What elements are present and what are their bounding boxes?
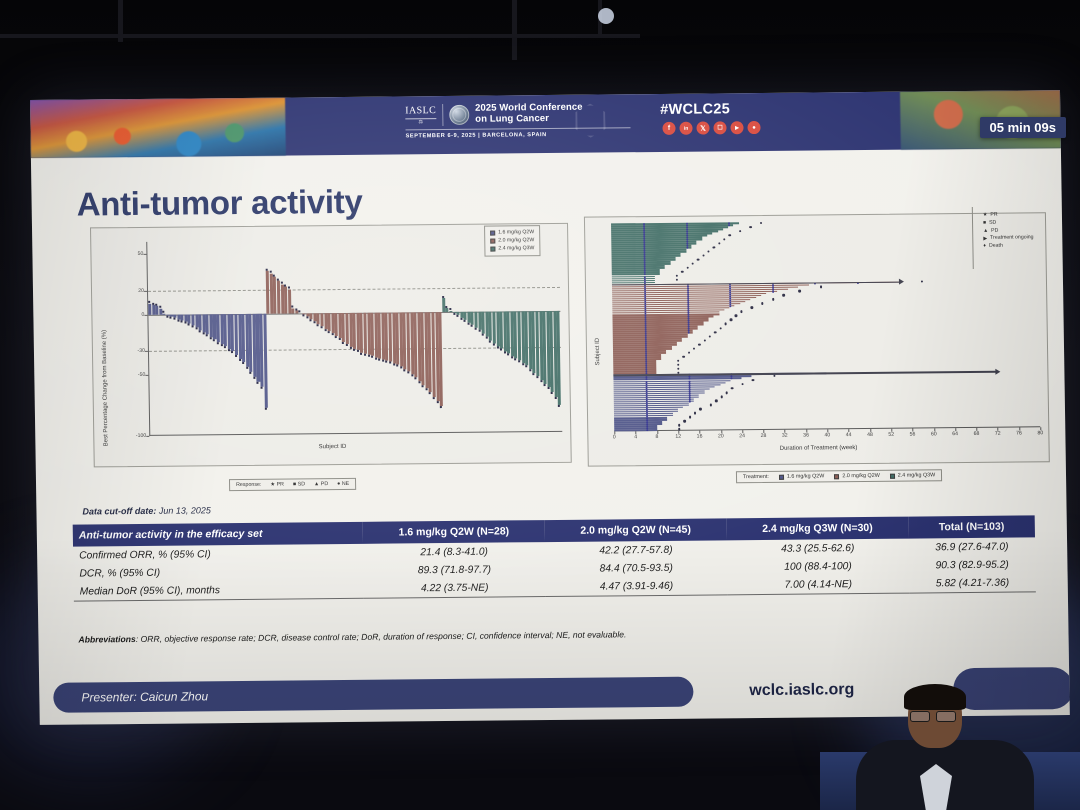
waterfall-chart: Best Percentage Change from Baseline (%)… bbox=[90, 223, 572, 468]
table-cell: 84.4 (70.5-93.5) bbox=[545, 558, 727, 578]
death-marker bbox=[714, 331, 716, 333]
waterfall-response-marker bbox=[224, 347, 226, 349]
swimmer-x-tick-mark bbox=[742, 430, 743, 433]
conference-name: 2025 World Conference on Lung Cancer bbox=[475, 103, 583, 126]
swimmer-x-tick: 16 bbox=[696, 434, 704, 440]
waterfall-response-marker bbox=[407, 372, 409, 374]
swimmer-x-tick: 80 bbox=[1036, 430, 1044, 436]
swimmer-x-tick: 8 bbox=[653, 434, 661, 440]
waterfall-response-legend: Response: ★ PR■ SD▲ PD● NE bbox=[229, 478, 356, 491]
waterfall-response-marker bbox=[382, 360, 384, 362]
instagram-icon[interactable]: ☐ bbox=[713, 121, 726, 134]
death-marker bbox=[678, 424, 680, 426]
waterfall-response-marker bbox=[250, 372, 252, 374]
waterfall-response-marker bbox=[482, 333, 484, 335]
death-marker bbox=[820, 286, 822, 288]
swimmer-legend-symbol: ■ bbox=[983, 220, 986, 228]
waterfall-bar bbox=[288, 289, 291, 313]
waterfall-response-marker bbox=[206, 335, 208, 337]
anti-tumor-activity-table: Anti-tumor activity in the efficacy set1… bbox=[73, 515, 1036, 601]
waterfall-response-marker bbox=[555, 397, 557, 399]
swimmer-response-marker bbox=[731, 378, 733, 380]
waterfall-response-marker bbox=[436, 402, 438, 404]
death-marker bbox=[751, 306, 753, 308]
swimmer-x-tick-mark bbox=[955, 428, 956, 431]
waterfall-response-marker bbox=[429, 392, 431, 394]
banner-photo-left bbox=[30, 98, 286, 158]
globe-icon bbox=[449, 105, 469, 125]
waterfall-response-marker bbox=[415, 378, 417, 380]
treatment-legend-label: Treatment: bbox=[743, 474, 769, 480]
presenter-name: Presenter: Caicun Zhou bbox=[81, 689, 208, 704]
death-marker bbox=[710, 404, 712, 406]
death-marker bbox=[692, 263, 694, 265]
waterfall-response-marker bbox=[371, 356, 373, 358]
death-marker bbox=[715, 400, 717, 402]
waterfall-reference-line bbox=[148, 286, 560, 291]
waterfall-response-marker bbox=[159, 306, 161, 308]
response-label: PR bbox=[277, 482, 284, 488]
waterfall-dose-legend: 1.6 mg/kg Q2W2.0 mg/kg Q2W2.4 mg/kg Q3W bbox=[484, 225, 541, 257]
treatment-legend-label: 2.0 mg/kg Q2W bbox=[842, 473, 880, 479]
waterfall-response-marker bbox=[295, 308, 297, 310]
waterfall-response-marker bbox=[192, 325, 194, 327]
swimmer-response-marker bbox=[728, 224, 730, 226]
swimmer-x-tick-mark bbox=[657, 431, 658, 434]
waterfall-response-marker bbox=[277, 278, 279, 280]
death-marker bbox=[699, 408, 701, 410]
waterfall-response-marker bbox=[500, 349, 502, 351]
treatment-ongoing-arrow bbox=[613, 371, 996, 376]
waterfall-response-marker bbox=[292, 306, 294, 308]
treatment-legend-swatch bbox=[779, 474, 784, 479]
waterfall-response-marker bbox=[440, 406, 442, 408]
waterfall-response-marker bbox=[331, 333, 333, 335]
death-marker bbox=[677, 360, 679, 362]
speaker-glasses-left-icon bbox=[910, 711, 930, 722]
swimmer-x-tick: 24 bbox=[738, 433, 746, 439]
treatment-legend-items: 1.6 mg/kg Q2W2.0 mg/kg Q2W2.4 mg/kg Q3W bbox=[779, 472, 935, 480]
swimmer-legend-symbol: ▶ bbox=[983, 235, 987, 243]
death-marker bbox=[688, 351, 690, 353]
waterfall-response-marker bbox=[496, 346, 498, 348]
swimmer-legend-label: Death bbox=[989, 243, 1003, 251]
swimmer-x-tick: 64 bbox=[951, 431, 959, 437]
speaker-glasses-right-icon bbox=[936, 711, 956, 722]
stage-lamp bbox=[598, 8, 614, 24]
waterfall-response-marker bbox=[342, 342, 344, 344]
waterfall-response-marker bbox=[478, 330, 480, 332]
swimmer-legend-symbol: ▲ bbox=[983, 228, 988, 236]
swimmer-x-tick: 60 bbox=[930, 431, 938, 437]
table-cell: 4.22 (3.75-NE) bbox=[364, 578, 546, 598]
waterfall-y-tick: -30 bbox=[131, 348, 145, 354]
abbreviations-note: Abbreviations: ORR, objective response r… bbox=[78, 629, 626, 644]
death-marker bbox=[683, 420, 685, 422]
swimmer-x-tick: 12 bbox=[674, 434, 682, 440]
waterfall-y-tick: 20 bbox=[130, 287, 144, 293]
swimmer-x-tick-mark bbox=[699, 431, 700, 434]
swimmer-x-tick-mark bbox=[891, 429, 892, 432]
swimmer-x-tick: 56 bbox=[909, 431, 917, 437]
swimmer-x-tick: 52 bbox=[887, 432, 895, 438]
waterfall-response-marker bbox=[221, 344, 223, 346]
waterfall-response-marker bbox=[511, 356, 513, 358]
death-marker bbox=[773, 375, 775, 377]
legend-swatch bbox=[490, 239, 495, 244]
death-marker bbox=[677, 364, 679, 366]
death-marker bbox=[681, 271, 683, 273]
waterfall-bar bbox=[295, 311, 298, 313]
waterfall-response-marker bbox=[152, 302, 154, 304]
response-legend-entry: ★ PR bbox=[270, 482, 284, 488]
waterfall-response-marker bbox=[525, 366, 527, 368]
social-media-icons: f in 𝕏 ☐ ▶ ● bbox=[662, 121, 760, 135]
waterfall-y-axis-label: Best Percentage Change from Baseline (%) bbox=[102, 330, 110, 446]
death-marker bbox=[677, 368, 679, 370]
waterfall-response-marker bbox=[335, 336, 337, 338]
table-cell: 36.9 (27.6-47.0) bbox=[908, 537, 1035, 556]
waterfall-response-marker bbox=[433, 397, 435, 399]
presenter-bar: Presenter: Caicun Zhou bbox=[53, 677, 693, 713]
death-marker bbox=[686, 267, 688, 269]
waterfall-response-marker bbox=[540, 380, 542, 382]
iaslc-wordmark: IASLC ⚖ bbox=[405, 106, 436, 125]
death-marker bbox=[921, 281, 923, 283]
swimmer-x-tick-mark bbox=[636, 431, 637, 434]
death-marker bbox=[698, 343, 700, 345]
waterfall-response-marker bbox=[504, 351, 506, 353]
waterfall-response-marker bbox=[453, 313, 455, 315]
waterfall-plot-area bbox=[147, 238, 562, 436]
iaslc-logo-block: IASLC ⚖ 2025 World Conference on Lung Ca… bbox=[405, 103, 583, 127]
waterfall-response-marker bbox=[284, 284, 286, 286]
swimmer-x-tick: 72 bbox=[994, 431, 1002, 437]
swimmer-x-tick-mark bbox=[827, 429, 828, 432]
swimmer-response-marker bbox=[688, 400, 690, 402]
waterfall-response-marker bbox=[257, 381, 259, 383]
waterfall-response-marker bbox=[533, 373, 535, 375]
waterfall-response-marker bbox=[310, 319, 312, 321]
waterfall-legend-item: 2.4 mg/kg Q3W bbox=[490, 245, 534, 253]
legend-swatch bbox=[490, 231, 495, 236]
waterfall-response-marker bbox=[536, 376, 538, 378]
table-cell: 100 (88.4-100) bbox=[727, 557, 909, 577]
waterfall-response-marker bbox=[518, 361, 520, 363]
table-header-cell: Total (N=103) bbox=[908, 515, 1035, 538]
waterfall-response-marker bbox=[486, 337, 488, 339]
waterfall-response-marker bbox=[551, 392, 553, 394]
swimmer-response-marker bbox=[686, 247, 688, 249]
death-marker bbox=[724, 323, 726, 325]
waterfall-response-marker bbox=[266, 269, 268, 271]
death-marker bbox=[741, 383, 743, 385]
swimmer-x-tick-mark bbox=[1040, 427, 1041, 430]
waterfall-response-marker bbox=[321, 326, 323, 328]
waterfall-response-marker bbox=[467, 322, 469, 324]
treatment-legend-entry: 1.6 mg/kg Q2W bbox=[779, 473, 825, 479]
waterfall-response-marker bbox=[547, 387, 549, 389]
ceiling-truss-vertical-left bbox=[118, 0, 123, 42]
waterfall-y-tick: 50 bbox=[129, 251, 143, 257]
logo-divider bbox=[442, 104, 443, 126]
table-cell: 21.4 (8.3-41.0) bbox=[363, 542, 545, 562]
waterfall-response-marker bbox=[184, 322, 186, 324]
death-marker bbox=[718, 242, 720, 244]
treatment-legend-entry: 2.0 mg/kg Q2W bbox=[834, 473, 880, 479]
swimmer-x-tick-mark bbox=[721, 430, 722, 433]
waterfall-response-marker bbox=[507, 354, 509, 356]
response-legend-entry: ▲ PD bbox=[314, 481, 328, 487]
waterfall-response-marker bbox=[273, 275, 275, 277]
wechat-icon[interactable]: ● bbox=[747, 121, 760, 134]
swimmer-legend-item: ▶Treatment ongoing bbox=[983, 235, 1033, 243]
waterfall-response-marker bbox=[177, 319, 179, 321]
treatment-legend-entry: 2.4 mg/kg Q3W bbox=[890, 472, 936, 478]
waterfall-response-marker bbox=[558, 405, 560, 407]
death-marker bbox=[694, 412, 696, 414]
response-label: NE bbox=[342, 481, 349, 487]
death-marker bbox=[740, 311, 742, 313]
waterfall-response-marker bbox=[228, 349, 230, 351]
waterfall-x-axis-label: Subject ID bbox=[319, 444, 347, 450]
abbreviations-label: Abbreviations bbox=[78, 634, 135, 645]
table-header-cell: 2.0 mg/kg Q2W (N=45) bbox=[545, 518, 727, 542]
swimmer-legend-label: PD bbox=[991, 227, 998, 235]
table-cell: 90.3 (82.9-95.2) bbox=[909, 555, 1036, 574]
waterfall-response-marker bbox=[378, 358, 380, 360]
ceiling-truss-horizontal bbox=[0, 34, 640, 38]
waterfall-response-marker bbox=[195, 327, 197, 329]
waterfall-response-marker bbox=[389, 362, 391, 364]
table-cell: 5.82 (4.21-7.36) bbox=[909, 573, 1036, 593]
death-marker bbox=[676, 275, 678, 277]
table-body: Confirmed ORR, % (95% CI)21.4 (8.3-41.0)… bbox=[73, 537, 1036, 601]
table-cell: 43.3 (25.5-62.6) bbox=[727, 539, 909, 559]
waterfall-response-marker bbox=[324, 329, 326, 331]
waterfall-response-marker bbox=[213, 339, 215, 341]
waterfall-response-marker bbox=[418, 381, 420, 383]
waterfall-response-marker bbox=[265, 408, 267, 410]
abbreviations-text: : ORR, objective response rate; DCR, dis… bbox=[136, 629, 627, 644]
waterfall-response-marker bbox=[464, 320, 466, 322]
swimmer-x-tick-mark bbox=[806, 430, 807, 433]
death-marker bbox=[702, 254, 704, 256]
swimmer-x-tick-mark bbox=[1019, 428, 1020, 431]
projected-slide: IASLC ⚖ 2025 World Conference on Lung Ca… bbox=[30, 90, 1070, 725]
waterfall-response-marker bbox=[460, 318, 462, 320]
swimmer-response-marker bbox=[687, 332, 689, 334]
death-marker bbox=[697, 258, 699, 260]
swimmer-x-tick-mark bbox=[678, 431, 679, 434]
swimmer-x-tick-mark bbox=[912, 429, 913, 432]
waterfall-y-tick-mark bbox=[146, 436, 149, 437]
waterfall-response-marker bbox=[350, 347, 352, 349]
waterfall-response-marker bbox=[386, 361, 388, 363]
swimmer-x-ticks: 048121620242832364044485256606468727680 bbox=[585, 213, 1045, 217]
swimmer-x-tick: 40 bbox=[823, 432, 831, 438]
death-marker bbox=[720, 396, 722, 398]
waterfall-response-marker bbox=[457, 315, 459, 317]
death-marker bbox=[728, 234, 730, 236]
death-marker bbox=[752, 379, 754, 381]
death-marker bbox=[731, 387, 733, 389]
swimmer-legend-symbol: ♦ bbox=[983, 243, 986, 251]
waterfall-response-marker bbox=[360, 353, 362, 355]
waterfall-response-marker bbox=[353, 349, 355, 351]
waterfall-response-marker bbox=[449, 308, 451, 310]
waterfall-y-tick: -50 bbox=[131, 372, 145, 378]
response-symbol: ★ bbox=[270, 482, 275, 488]
waterfall-response-marker bbox=[270, 271, 272, 273]
swimmer-x-tick: 20 bbox=[717, 433, 725, 439]
waterfall-response-marker bbox=[442, 296, 444, 298]
waterfall-response-marker bbox=[253, 377, 255, 379]
conference-hashtag: #WCLC25 bbox=[660, 101, 730, 118]
table-cell: 89.3 (71.8-97.7) bbox=[363, 560, 545, 580]
swimmer-x-tick: 36 bbox=[802, 433, 810, 439]
response-legend-items: ★ PR■ SD▲ PD● NE bbox=[270, 481, 349, 488]
slide-title: Anti-tumor activity bbox=[76, 183, 362, 224]
waterfall-response-marker bbox=[155, 304, 157, 306]
treatment-legend-label: 2.4 mg/kg Q3W bbox=[898, 472, 936, 478]
swimmer-x-tick-mark bbox=[976, 428, 977, 431]
waterfall-response-marker bbox=[489, 340, 491, 342]
conference-name-line2: on Lung Cancer bbox=[475, 114, 583, 126]
swimmer-x-tick-mark bbox=[849, 429, 850, 432]
waterfall-response-marker bbox=[163, 311, 165, 313]
swimmer-treatment-legend: Treatment: 1.6 mg/kg Q2W2.0 mg/kg Q2W2.4… bbox=[736, 469, 942, 483]
response-label: PD bbox=[321, 481, 328, 487]
waterfall-response-marker bbox=[239, 359, 241, 361]
death-marker bbox=[783, 294, 785, 296]
waterfall-response-marker bbox=[188, 324, 190, 326]
cutoff-value: Jun 13, 2025 bbox=[156, 505, 211, 516]
presenter-silhouette bbox=[850, 690, 1040, 810]
treatment-legend-swatch bbox=[834, 474, 839, 479]
swimmer-legend-label: SD bbox=[989, 220, 996, 228]
swimmer-legend-label: PR bbox=[990, 212, 997, 220]
waterfall-response-marker bbox=[217, 342, 219, 344]
table-header-cell: 2.4 mg/kg Q3W (N=30) bbox=[726, 517, 908, 541]
death-marker bbox=[709, 335, 711, 337]
swimmer-x-tick-mark bbox=[998, 428, 999, 431]
response-legend-entry: ● NE bbox=[337, 481, 349, 487]
death-marker bbox=[719, 327, 721, 329]
conference-room-stage: 05 min 09s IASLC ⚖ 2025 World Conference… bbox=[0, 0, 1080, 810]
waterfall-y-tick: -100 bbox=[132, 433, 146, 439]
death-marker bbox=[689, 416, 691, 418]
waterfall-response-marker bbox=[522, 363, 524, 365]
x-twitter-icon[interactable]: 𝕏 bbox=[696, 121, 709, 134]
waterfall-response-marker bbox=[288, 287, 290, 289]
swimmer-x-tick: 44 bbox=[845, 432, 853, 438]
swimmer-x-axis-label: Duration of Treatment (week) bbox=[780, 445, 858, 452]
waterfall-response-marker bbox=[210, 337, 212, 339]
response-legend-entry: ■ SD bbox=[293, 481, 305, 487]
speaker-hair bbox=[904, 684, 966, 710]
table-cell: 4.47 (3.91-9.46) bbox=[545, 576, 727, 596]
waterfall-response-marker bbox=[280, 282, 282, 284]
waterfall-response-marker bbox=[299, 311, 301, 313]
death-marker bbox=[735, 315, 737, 317]
waterfall-response-marker bbox=[475, 327, 477, 329]
slide-header-banner: IASLC ⚖ 2025 World Conference on Lung Ca… bbox=[30, 90, 1061, 158]
waterfall-response-marker bbox=[166, 316, 168, 318]
table-cell: 42.2 (27.7-57.8) bbox=[545, 540, 727, 560]
waterfall-response-marker bbox=[199, 330, 201, 332]
swimmer-response-marker bbox=[646, 429, 648, 431]
swimmer-response-marker bbox=[729, 305, 731, 307]
waterfall-response-marker bbox=[393, 363, 395, 365]
death-marker bbox=[723, 238, 725, 240]
swimmer-symbol-legend: ★PR■SD▲PD▶Treatment ongoing♦Death bbox=[978, 208, 1039, 254]
youtube-icon[interactable]: ▶ bbox=[730, 121, 743, 134]
waterfall-response-marker bbox=[544, 384, 546, 386]
treatment-legend-label: 1.6 mg/kg Q2W bbox=[787, 473, 825, 479]
waterfall-bar bbox=[163, 313, 166, 314]
response-legend-label: Response: bbox=[236, 482, 261, 488]
response-symbol: ▲ bbox=[314, 481, 319, 487]
swimmer-x-tick: 68 bbox=[972, 431, 980, 437]
facebook-icon[interactable]: f bbox=[662, 122, 675, 135]
linkedin-icon[interactable]: in bbox=[679, 122, 692, 135]
waterfall-response-marker bbox=[346, 344, 348, 346]
iaslc-acronym: IASLC bbox=[405, 106, 436, 116]
swimmer-x-tick: 76 bbox=[1015, 430, 1023, 436]
waterfall-response-marker bbox=[400, 367, 402, 369]
swimmer-x-tick: 48 bbox=[866, 432, 874, 438]
waterfall-response-marker bbox=[148, 301, 150, 303]
waterfall-response-marker bbox=[396, 364, 398, 366]
swimmer-legend-symbol: ★ bbox=[983, 212, 988, 220]
iaslc-full-name: ⚖ bbox=[405, 118, 436, 125]
death-marker bbox=[739, 230, 741, 232]
waterfall-response-marker bbox=[317, 324, 319, 326]
waterfall-response-marker bbox=[181, 320, 183, 322]
swimmer-x-tick-mark bbox=[614, 431, 615, 434]
death-marker bbox=[749, 226, 751, 228]
legend-label: 2.4 mg/kg Q3W bbox=[498, 245, 534, 253]
death-marker bbox=[798, 290, 800, 292]
death-marker bbox=[682, 356, 684, 358]
swimmer-x-tick: 0 bbox=[610, 434, 618, 440]
waterfall-response-marker bbox=[425, 388, 427, 390]
waterfall-response-marker bbox=[446, 306, 448, 308]
waterfall-response-marker bbox=[375, 357, 377, 359]
table-header-cell: 1.6 mg/kg Q2W (N=28) bbox=[363, 520, 545, 544]
death-marker bbox=[730, 319, 732, 321]
waterfall-response-marker bbox=[246, 367, 248, 369]
waterfall-y-tick: 0 bbox=[130, 312, 144, 318]
death-marker bbox=[693, 347, 695, 349]
waterfall-response-marker bbox=[471, 325, 473, 327]
response-label: SD bbox=[298, 481, 305, 487]
data-cutoff-date: Data cut-off date: Jun 13, 2025 bbox=[82, 505, 211, 516]
waterfall-response-marker bbox=[339, 338, 341, 340]
waterfall-bar bbox=[557, 311, 562, 406]
response-symbol: ■ bbox=[293, 481, 296, 487]
swimmer-x-tick: 28 bbox=[759, 433, 767, 439]
death-marker bbox=[772, 298, 774, 300]
waterfall-response-marker bbox=[231, 351, 233, 353]
swimmer-legend-item: ♦Death bbox=[983, 243, 1033, 251]
waterfall-response-marker bbox=[242, 362, 244, 364]
death-marker bbox=[703, 339, 705, 341]
session-timer: 05 min 09s bbox=[980, 117, 1067, 138]
swimmer-x-tick-mark bbox=[785, 430, 786, 433]
waterfall-response-marker bbox=[529, 369, 531, 371]
